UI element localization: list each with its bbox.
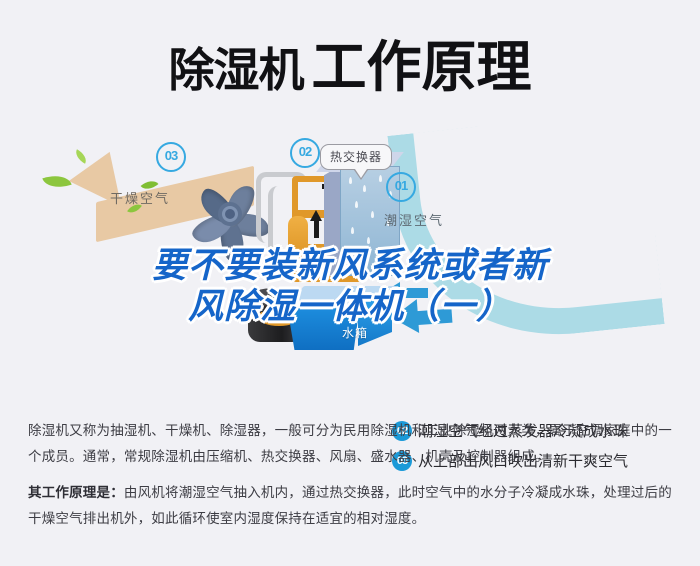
heat-exchanger-callout: 热交换器	[320, 144, 392, 170]
humid-air-arrow-bar	[414, 309, 453, 326]
article-body: 除湿机又称为抽湿机、干燥机、除湿器，一般可分为民用除湿机和工业除湿机两大类，属于…	[28, 418, 676, 541]
humid-air-label: 潮湿空气	[384, 210, 444, 229]
article-paragraph-2: 其工作原理是：由风机将潮湿空气抽入机内，通过热交换器，此时空气中的水分子冷凝成水…	[28, 480, 676, 533]
step-marker-02: 02	[290, 138, 320, 168]
dehumidifier-diagram: 干燥空气	[0, 128, 700, 390]
article-paragraph-2-lead: 其工作原理是：	[28, 485, 124, 500]
fan-hub-center	[225, 209, 235, 219]
page-title: 除湿机工作原理	[0, 22, 700, 102]
poster-canvas: 除湿机工作原理 干燥空气	[0, 0, 700, 566]
intake-arrow-bar	[398, 288, 428, 298]
page-title-part1: 除湿机	[168, 44, 303, 96]
flow-arrow-bar	[314, 220, 319, 238]
water-tank-label: 水箱	[342, 324, 368, 341]
receiver-tank	[288, 216, 308, 268]
step-marker-03: 03	[156, 142, 186, 172]
page-title-part2: 工作原理	[311, 36, 531, 98]
water-tank: 水箱	[296, 286, 400, 360]
article-paragraph-2-rest: 由风机将潮湿空气抽入机内，通过热交换器，此时空气中的水分子冷凝成水珠，处理过后的…	[28, 485, 672, 526]
article-paragraph-1: 除湿机又称为抽湿机、干燥机、除湿器，一般可分为民用除湿机和工业除湿机两大类，属于…	[28, 418, 676, 471]
flow-arrow-up-icon	[310, 210, 322, 221]
step-marker-01: 01	[386, 172, 416, 202]
